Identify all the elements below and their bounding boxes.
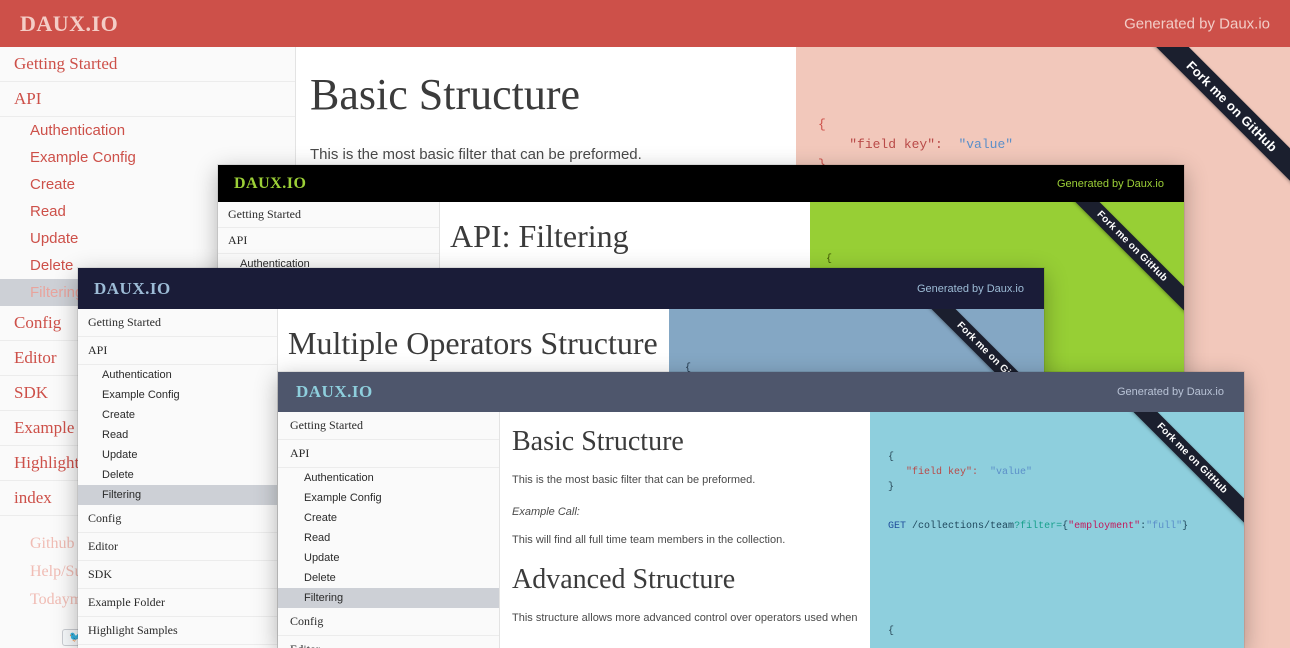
sidebar-item-filtering[interactable]: Filtering [278,588,499,608]
sidebar-item-config[interactable]: Config [278,608,499,636]
sidebar-item-api[interactable]: API [0,82,295,117]
sidebar-item-editor[interactable]: Editor [278,636,499,648]
code-block-json: { "field key": "value" } [796,47,1290,175]
sidebar-item-getting-started[interactable]: Getting Started [278,412,499,440]
sidebar-item-read[interactable]: Read [278,528,499,548]
sidebar-item-create[interactable]: Create [78,405,277,425]
brand-logo[interactable]: DAUX.IO [94,279,171,299]
code-block-json: { [669,309,1044,376]
generated-by-label[interactable]: Generated by Daux.io [1117,386,1224,398]
sidebar-item-delete[interactable]: Delete [78,465,277,485]
code-json-key: "field key": [849,137,943,152]
code-json-key: "field key": [906,467,978,478]
code-brace-open: { [818,117,826,132]
sidebar-item-read[interactable]: Read [78,425,277,445]
sidebar-item-delete[interactable]: Delete [278,568,499,588]
generated-by-label[interactable]: Generated by Daux.io [1124,15,1270,32]
code-json-value: "value" [990,467,1032,478]
sidebar-item-api[interactable]: API [78,337,277,365]
sidebar-item-getting-started[interactable]: Getting Started [78,309,277,337]
generated-by-label[interactable]: Generated by Daux.io [1057,178,1164,190]
sidebar-item-api[interactable]: API [278,440,499,468]
code-block-json: { "field key": "value" } [870,412,1244,495]
sidebar-item-example-folder[interactable]: Example Folder [78,589,277,617]
sidebar-item-getting-started[interactable]: Getting Started [218,202,439,228]
code-filter-value: "full" [1146,521,1182,532]
code-block-get: GET /collections/team?filter={"employmen… [870,495,1244,534]
window-slate-theme[interactable]: DAUX.IO Generated by Daux.io Getting Sta… [278,372,1244,648]
code-http-verb: GET [888,521,906,532]
topbar: DAUX.IO Generated by Daux.io [278,372,1244,412]
sidebar-item-editor[interactable]: Editor [78,533,277,561]
code-filter-brace-close: } [1182,521,1188,532]
sidebar: Getting Started API Authentication Examp… [78,309,278,648]
sidebar-item-getting-started[interactable]: Getting Started [0,47,295,82]
code-block-json-2: { [870,534,1244,639]
generated-by-label[interactable]: Generated by Daux.io [917,283,1024,295]
brand-logo[interactable]: DAUX.IO [296,382,373,402]
topbar: DAUX.IO Generated by Daux.io [0,0,1290,47]
code-http-query: ?filter= [1014,521,1062,532]
sidebar-item-authentication[interactable]: Authentication [0,117,295,144]
code-brace-open: { [888,452,894,463]
code-http-path: /collections/team [912,521,1014,532]
sidebar: Getting Started API Authentication Examp… [278,412,500,648]
sidebar-item-create[interactable]: Create [278,508,499,528]
sidebar-item-authentication[interactable]: Authentication [278,468,499,488]
sidebar-item-api[interactable]: API [218,228,439,254]
topbar: DAUX.IO Generated by Daux.io [218,165,1184,202]
code-brace-open: { [826,254,832,265]
sidebar-item-sdk[interactable]: SDK [78,561,277,589]
content: Basic Structure This is the most basic f… [500,412,1244,648]
sidebar-item-update[interactable]: Update [78,445,277,465]
sidebar-item-authentication[interactable]: Authentication [78,365,277,385]
sidebar-item-filtering[interactable]: Filtering [78,485,277,505]
code-filter-key: "employment" [1068,521,1140,532]
code-pane: { "field key": "value" } GET /collection… [870,412,1244,648]
code-brace-close: } [888,482,894,493]
brand-logo[interactable]: DAUX.IO [20,11,118,37]
code-brace-open-2: { [888,626,894,637]
topbar: DAUX.IO Generated by Daux.io [78,268,1044,309]
sidebar-item-config[interactable]: Config [78,505,277,533]
brand-logo[interactable]: DAUX.IO [234,175,306,193]
sidebar-item-update[interactable]: Update [278,548,499,568]
sidebar-item-highlight-samples[interactable]: Highlight Samples [78,617,277,645]
sidebar-item-example-config[interactable]: Example Config [278,488,499,508]
code-json-value: "value" [958,137,1013,152]
sidebar-item-example-config[interactable]: Example Config [78,385,277,405]
